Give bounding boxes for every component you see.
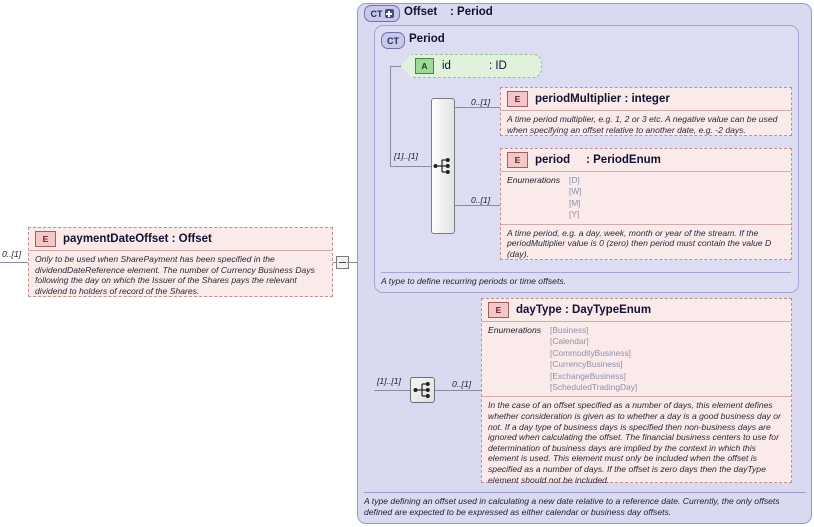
element-periodmultiplier-header: E periodMultiplier : integer <box>501 88 791 111</box>
daytype-cardinality: 0..[1] <box>452 379 471 389</box>
element-badge: E <box>507 152 528 168</box>
element-daytype[interactable]: E dayType : DayTypeEnum Enumerations [Bu… <box>481 298 792 483</box>
enumeration-values-period: [D] [W] [M] [Y] <box>569 175 582 221</box>
outer-frame-documentation: A type defining an offset used in calcul… <box>364 492 806 518</box>
period-sequence-cardinality: [1]..[1] <box>394 151 418 161</box>
element-badge: E <box>35 231 56 247</box>
element-daytype-title: dayType : DayTypeEnum <box>516 304 651 316</box>
daytype-left-line <box>374 390 410 391</box>
element-periodmultiplier[interactable]: E periodMultiplier : integer A time peri… <box>500 87 792 136</box>
enum-value: [ScheduledTradingDay] <box>550 382 637 392</box>
enumeration-values-daytype: [Business] [Calendar] [CommodityBusiness… <box>550 325 637 393</box>
outer-frame-type: : Period <box>450 6 493 18</box>
element-period[interactable]: E period : PeriodEnum Enumerations [D] [… <box>500 148 792 260</box>
element-daytype-header: E dayType : DayTypeEnum <box>482 299 791 322</box>
periodmultiplier-line <box>455 107 500 108</box>
enum-value: [D] <box>569 175 580 185</box>
enum-value: [M] <box>569 198 581 208</box>
enum-value: [CurrencyBusiness] <box>550 359 623 369</box>
attribute-id-type: : ID <box>489 60 507 72</box>
period-sequence-connector[interactable] <box>431 98 455 234</box>
enum-value: [Y] <box>569 209 579 219</box>
attribute-badge: A <box>415 58 434 74</box>
paymentdateoffset-cardinality: 0..[1] <box>2 249 21 259</box>
element-periodmultiplier-documentation: A time period multiplier, e.g. 1, 2 or 3… <box>501 111 791 138</box>
enum-value: [Business] <box>550 325 589 335</box>
enum-value: [Calendar] <box>550 336 589 346</box>
element-daytype-enumerations: Enumerations [Business] [Calendar] [Comm… <box>482 322 791 396</box>
periodmultiplier-cardinality: 0..[1] <box>471 97 490 107</box>
period-cardinality: 0..[1] <box>471 195 490 205</box>
enumerations-label: Enumerations <box>488 325 550 393</box>
daytype-right-line <box>435 390 481 391</box>
sequence-connector-line <box>390 166 432 167</box>
outer-ct-badge[interactable]: CT <box>364 5 400 22</box>
schema-diagram-canvas: CT Offset : Period A type defining an of… <box>0 0 814 527</box>
inner-ct-badge-label: CT <box>387 36 399 46</box>
element-paymentdateoffset-title: paymentDateOffset : Offset <box>63 233 212 245</box>
element-daytype-documentation: In the case of an offset specified as a … <box>482 396 791 488</box>
element-badge: E <box>488 302 509 318</box>
paymentdateoffset-left-line <box>0 262 28 263</box>
element-paymentdateoffset-header: E paymentDateOffset : Offset <box>29 228 332 251</box>
attribute-id-box[interactable]: A id : ID <box>400 54 542 78</box>
inner-ct-badge[interactable]: CT <box>381 32 405 49</box>
element-period-enumerations: Enumerations [D] [W] [M] [Y] <box>501 172 791 224</box>
inner-spine-vertical <box>390 66 391 166</box>
sequence-icon <box>433 157 453 175</box>
enum-value: [CommodityBusiness] <box>550 348 631 358</box>
inner-frame-name: Period <box>409 33 445 45</box>
enum-value: [ExchangeBusiness] <box>550 371 626 381</box>
daytype-sequence-cardinality: [1]..[1] <box>377 376 401 386</box>
element-badge: E <box>507 91 528 107</box>
offset-frame-connector-line <box>347 262 358 263</box>
outer-frame-name: Offset <box>404 6 437 18</box>
element-period-title: period : PeriodEnum <box>535 154 661 166</box>
expand-plus-icon[interactable] <box>385 9 394 18</box>
attribute-id-name: id <box>442 60 451 72</box>
enumerations-label: Enumerations <box>507 175 569 221</box>
period-line <box>455 205 500 206</box>
element-periodmultiplier-title: periodMultiplier : integer <box>535 93 670 105</box>
attribute-connector-line <box>390 66 401 67</box>
element-paymentdateoffset-documentation: Only to be used when SharePayment has be… <box>29 251 332 299</box>
element-period-header: E period : PeriodEnum <box>501 149 791 172</box>
outer-ct-badge-label: CT <box>371 9 383 19</box>
inner-frame-documentation: A type to define recurring periods or ti… <box>381 272 791 287</box>
element-period-documentation: A time period, e.g. a day, week, month o… <box>501 224 791 263</box>
sequence-icon <box>413 381 433 399</box>
collapse-stub-line <box>333 262 336 263</box>
element-paymentdateoffset[interactable]: E paymentDateOffset : Offset Only to be … <box>28 227 333 297</box>
enum-value: [W] <box>569 186 582 196</box>
daytype-sequence-connector[interactable] <box>410 377 435 403</box>
